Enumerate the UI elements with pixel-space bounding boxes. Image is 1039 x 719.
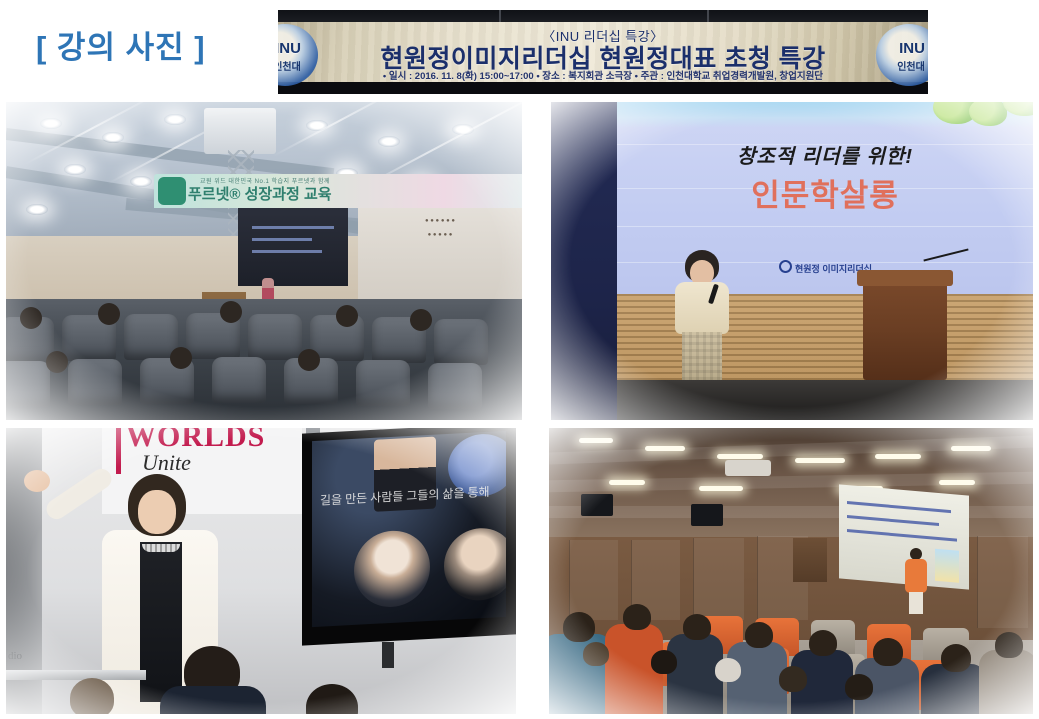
slide-title: 인문학살롱	[617, 170, 1033, 215]
hall-projection-screen	[839, 484, 969, 589]
speaker-necklace	[142, 544, 180, 552]
audience-head	[845, 674, 873, 700]
audience-head	[941, 644, 971, 672]
hall-speaker	[905, 548, 927, 614]
audience-head	[683, 614, 711, 640]
photo-lecture-hall	[549, 428, 1033, 714]
auditorium-side-screen	[238, 208, 348, 286]
audience-head	[563, 612, 595, 642]
wall-monitor: 길을 만든 사람들 그들의 삶을 통해	[302, 428, 516, 646]
audience-head	[779, 666, 807, 692]
stage-banner-title: 푸르넷® 성장과정 교육	[188, 183, 332, 204]
screen-book-image	[935, 549, 959, 583]
audience-head	[70, 678, 114, 714]
hall-podium	[793, 538, 827, 582]
photo-auditorium: 강의자료 화면 ● ● ● ● ● ● ● ● ● ● ● 교원 위드 대한민국…	[6, 102, 522, 420]
page-title: [ 강의 사진 ]	[36, 22, 206, 67]
speaker-blouse	[675, 282, 729, 334]
audience-head	[745, 622, 773, 648]
audience-head	[715, 658, 741, 682]
banner-ceiling	[278, 10, 928, 22]
speaker-face	[138, 490, 176, 534]
lecture-banner-photo: INU 인천대 INU 인천대 〈INU 리더십 특강〉 현원정이미지리더십 현…	[278, 10, 928, 94]
monitor-portrait-buffett	[354, 529, 430, 609]
stage-banner-logo-icon	[158, 177, 186, 205]
monitor-content: 길을 만든 사람들 그들의 삶을 통해	[312, 431, 506, 627]
lectern-desk	[6, 670, 146, 680]
photo-speaker-monitor: WORLDS Unite 길을 만든 사람들 그들의 삶을 통해 dio	[6, 428, 516, 714]
audience-body	[160, 686, 266, 714]
audience-head	[809, 630, 837, 656]
hall-projector	[725, 460, 771, 476]
hall-wall-monitor	[691, 504, 723, 526]
speaker-hand	[24, 470, 50, 492]
audience-head	[995, 632, 1023, 658]
podium	[863, 270, 947, 380]
side-label: dio	[8, 650, 22, 662]
monitor-stand	[382, 642, 394, 668]
stage-curtain	[551, 102, 617, 420]
audience-head	[583, 642, 609, 666]
audience-head	[623, 604, 651, 630]
banner-details: • 일시 : 2016. 11. 8(화) 15:00~17:00 • 장소 :…	[278, 68, 928, 82]
hall-wall-monitor	[581, 494, 613, 516]
auditorium-seating	[6, 299, 522, 420]
speaker-skirt	[682, 332, 722, 380]
brand-circle-icon	[779, 260, 792, 273]
banner-floor-shadow	[278, 82, 928, 94]
speaker-figure	[671, 250, 733, 380]
audience-body	[979, 650, 1033, 714]
photo-speaker-slide: 창조적 리더를 위한! 인문학살롱 현원정 이미지리더십	[551, 102, 1033, 420]
ceiling-mount	[204, 108, 276, 154]
speaker-black-top	[140, 542, 182, 702]
monitor-portrait-jobs	[444, 526, 506, 602]
stage-base	[617, 380, 1033, 420]
stage-banner: 교원 위드 대한민국 No.1 학습지 푸르넷과 함께 푸르넷® 성장과정 교육	[154, 174, 522, 208]
audience-head	[873, 638, 903, 666]
audience-head	[651, 650, 677, 674]
slide-headline: 창조적 리더를 위한!	[617, 140, 1033, 169]
